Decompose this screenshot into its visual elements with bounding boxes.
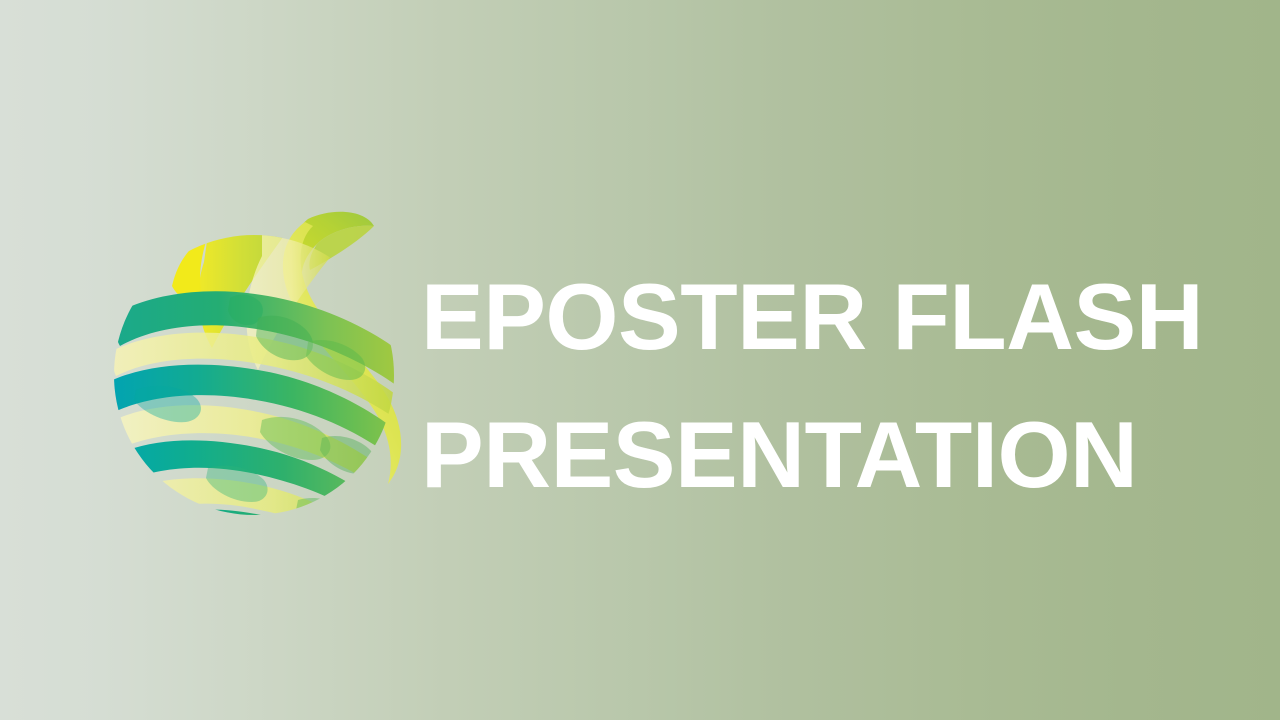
page-title: EPOSTER FLASH PRESENTATION <box>421 248 1221 524</box>
title-slide: EPOSTER FLASH PRESENTATION <box>0 0 1280 720</box>
spiral-globe-leaf-logo <box>112 200 412 520</box>
title-line-2: PRESENTATION <box>421 386 1221 524</box>
title-line-1: EPOSTER FLASH <box>421 248 1221 386</box>
